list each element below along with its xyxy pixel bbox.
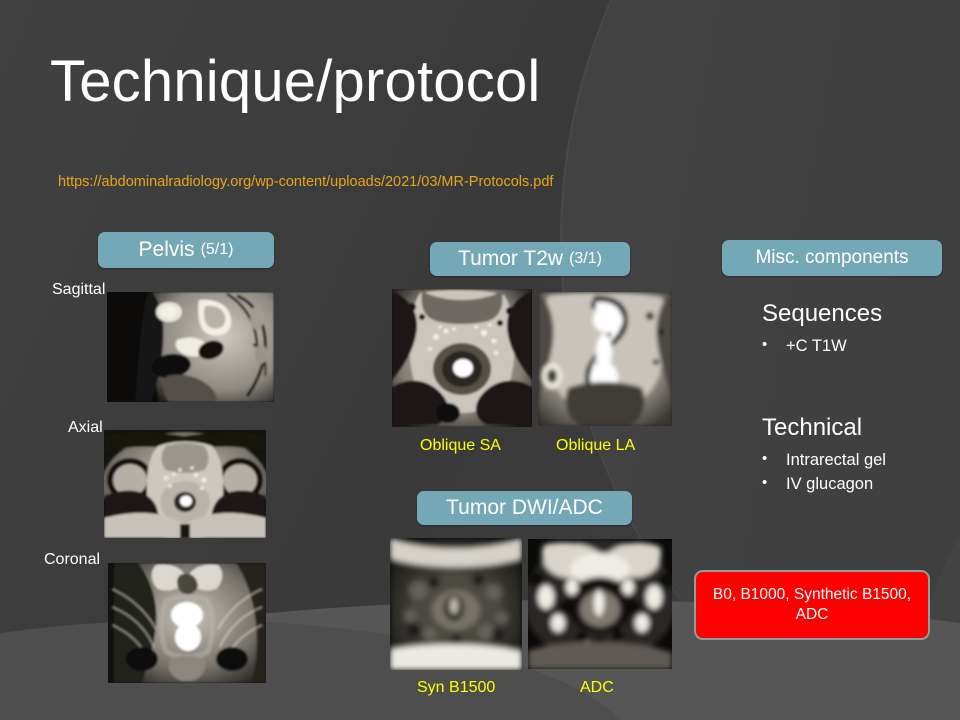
- syn-b1500-mri-image: [390, 538, 522, 670]
- group-header-tumor-dwi-adc: Tumor DWI/ADC: [417, 491, 632, 525]
- caption-oblique-sa: Oblique SA: [420, 437, 501, 455]
- group-header-pelvis-count: (5/1): [201, 241, 234, 259]
- group-header-tumor-dwi-adc-title: Tumor DWI/ADC: [446, 496, 603, 520]
- bullet-dot-icon: •: [762, 473, 767, 493]
- page-title: Technique/protocol: [50, 52, 540, 113]
- coronal-mri-image: [108, 563, 266, 683]
- group-header-misc-components: Misc. components: [722, 240, 942, 276]
- list-item-label: IV glucagon: [786, 475, 873, 493]
- list-item: • IV glucagon: [758, 473, 936, 495]
- source-url-link[interactable]: https://abdominalradiology.org/wp-conten…: [58, 174, 553, 190]
- axial-mri-image: [104, 430, 266, 538]
- group-header-misc-components-title: Misc. components: [755, 247, 908, 269]
- bullet-dot-icon: •: [762, 335, 767, 355]
- bullet-dot-icon: •: [762, 449, 767, 469]
- sagittal-mri-image: [107, 292, 274, 402]
- group-header-tumor-t2w-count: (3/1): [569, 250, 602, 268]
- section-heading-sequences: Sequences: [762, 300, 882, 328]
- section-heading-technical: Technical: [762, 414, 862, 442]
- oblique-sa-mri-image: [392, 289, 532, 427]
- caption-syn-b1500: Syn B1500: [417, 679, 495, 697]
- callout-b-values: B0, B1000, Synthetic B1500, ADC: [694, 570, 930, 640]
- label-coronal: Coronal: [44, 551, 100, 569]
- group-header-tumor-t2w: Tumor T2w (3/1): [430, 242, 630, 276]
- label-axial: Axial: [68, 419, 103, 437]
- bullet-list-technical: • Intrarectal gel • IV glucagon: [758, 449, 936, 498]
- oblique-la-mri-image: [538, 292, 672, 426]
- group-header-tumor-t2w-title: Tumor T2w: [458, 247, 563, 271]
- list-item-label: Intrarectal gel: [786, 451, 886, 469]
- group-header-pelvis-title: Pelvis: [139, 238, 195, 262]
- slide-canvas: Technique/protocol https://abdominalradi…: [0, 0, 960, 720]
- bullet-list-sequences: • +C T1W: [758, 335, 948, 359]
- list-item-label: +C T1W: [786, 337, 847, 355]
- adc-mri-image: [528, 539, 672, 669]
- group-header-pelvis: Pelvis (5/1): [98, 232, 274, 268]
- list-item: • +C T1W: [758, 335, 948, 357]
- label-sagittal: Sagittal: [52, 281, 105, 299]
- caption-adc: ADC: [580, 679, 614, 697]
- list-item: • Intrarectal gel: [758, 449, 936, 471]
- caption-oblique-la: Oblique LA: [556, 437, 635, 455]
